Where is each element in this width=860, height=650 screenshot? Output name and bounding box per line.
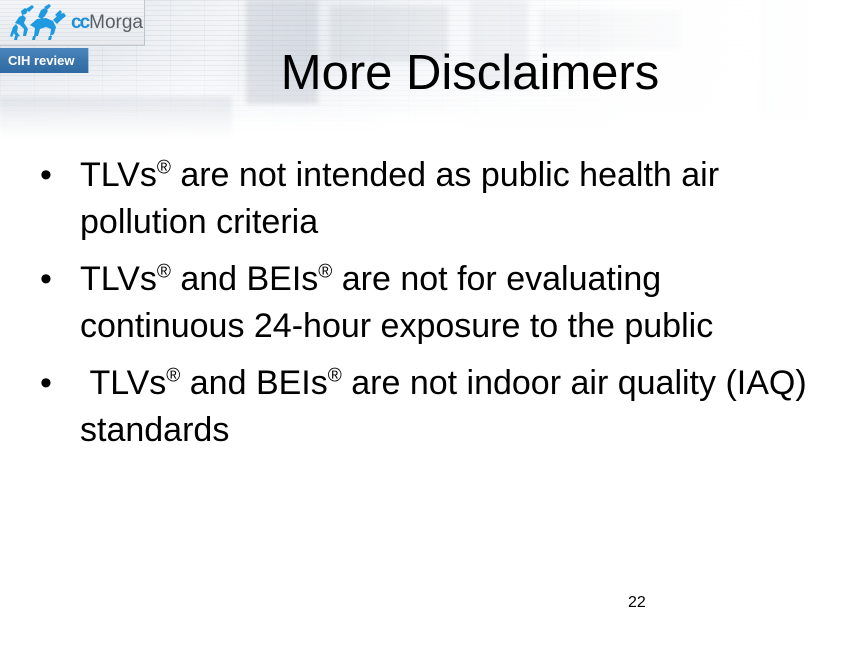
page-title: More Disclaimers xyxy=(140,48,800,99)
cih-review-tab[interactable]: CIH review xyxy=(0,48,89,73)
bullet-text: TLVs® and BEIs® are not indoor air quali… xyxy=(80,360,830,454)
logo-cc-text: cc xyxy=(71,13,88,32)
registered-trademark-icon: ® xyxy=(157,262,171,283)
bullet-item: •TLVs® and BEIs® are not for evaluating … xyxy=(40,256,830,350)
bullet-text: TLVs® are not intended as public health … xyxy=(80,152,830,246)
bullet-marker-icon: • xyxy=(40,360,80,407)
bullet-list: •TLVs® are not intended as public health… xyxy=(40,152,830,464)
registered-trademark-icon: ® xyxy=(157,158,171,179)
bullet-text: TLVs® and BEIs® are not for evaluating c… xyxy=(80,256,830,350)
presentation-slide: cc Morgan CIH review More Disclaimers •T… xyxy=(0,0,860,650)
registered-trademark-icon: ® xyxy=(318,262,332,283)
page-number: 22 xyxy=(628,594,646,612)
bullet-marker-icon: • xyxy=(40,256,80,303)
bullet-item: • TLVs® and BEIs® are not indoor air qua… xyxy=(40,360,830,454)
brand-logo: cc Morgan xyxy=(0,0,145,46)
bullet-item: •TLVs® are not intended as public health… xyxy=(40,152,830,246)
polo-riders-logo-icon xyxy=(4,3,70,43)
bullet-marker-icon: • xyxy=(40,152,80,199)
logo-name-text: Morgan xyxy=(89,13,145,32)
registered-trademark-icon: ® xyxy=(328,366,342,387)
cih-review-tab-label: CIH review xyxy=(8,54,74,67)
banner-fade xyxy=(0,104,860,140)
brand-wordmark: cc Morgan xyxy=(71,13,145,32)
registered-trademark-icon: ® xyxy=(166,366,180,387)
